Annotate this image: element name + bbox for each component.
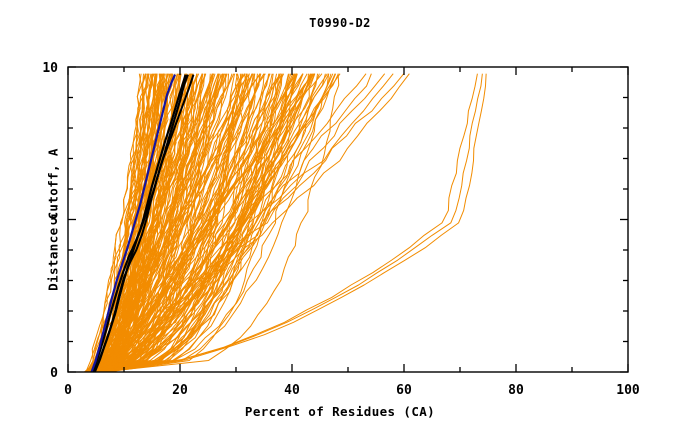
x-tick-label: 20 (172, 383, 188, 398)
x-axis-label: Percent of Residues (CA) (0, 404, 680, 419)
x-tick-label: 40 (284, 383, 300, 398)
y-axis-label: Distance Cutoff, A (46, 90, 61, 350)
y-tick-label: 10 (42, 61, 58, 76)
plot-canvas: 0204060801000510 (0, 0, 680, 440)
x-tick-label: 60 (396, 383, 412, 398)
curve-layer (84, 74, 486, 372)
chart-figure: T0990-D2 0204060801000510 Percent of Res… (0, 0, 680, 440)
x-tick-label: 0 (64, 383, 72, 398)
x-tick-label: 100 (616, 383, 640, 398)
y-tick-label: 0 (50, 366, 58, 381)
x-tick-label: 80 (508, 383, 524, 398)
